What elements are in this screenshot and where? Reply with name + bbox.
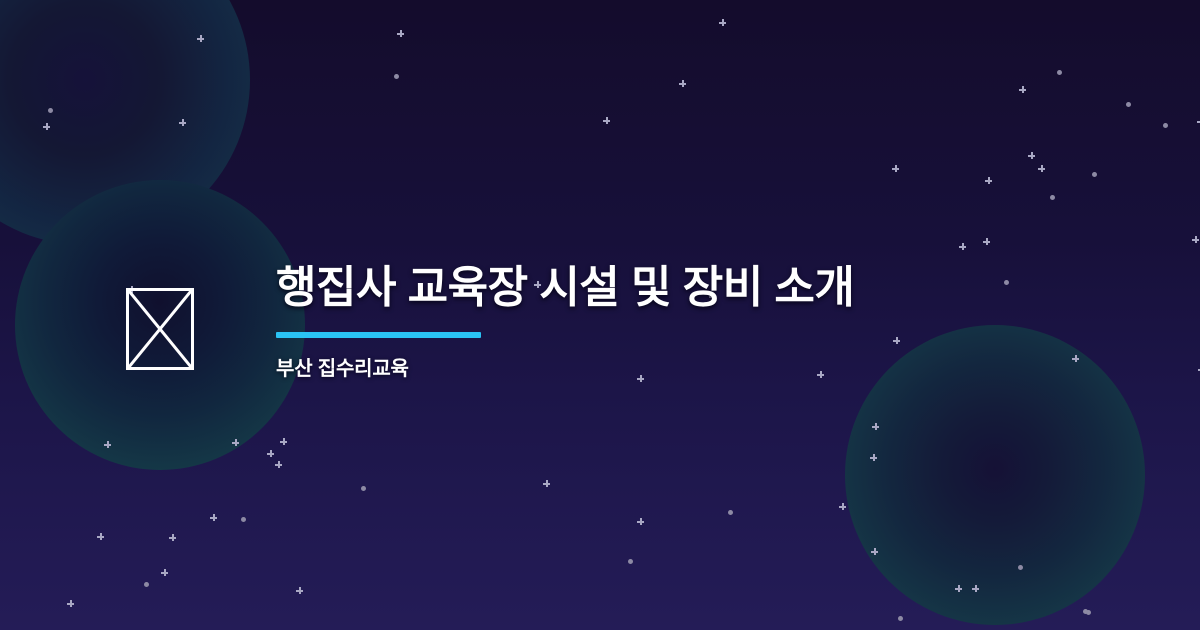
page-subtitle: 부산 집수리교육 <box>276 357 1036 381</box>
page-title: 행집사 교육장 시설 및 장비 소개 <box>276 262 1036 314</box>
card-content: 행집사 교육장 시설 및 장비 소개 부산 집수리교육 <box>0 0 1200 630</box>
og-image-card: 행집사 교육장 시설 및 장비 소개 부산 집수리교육 <box>0 0 1200 630</box>
accent-divider <box>276 332 481 338</box>
thumbnail-placeholder <box>126 288 194 370</box>
broken-image-placeholder-icon <box>126 288 194 370</box>
text-block: 행집사 교육장 시설 및 장비 소개 부산 집수리교육 <box>276 262 1036 381</box>
